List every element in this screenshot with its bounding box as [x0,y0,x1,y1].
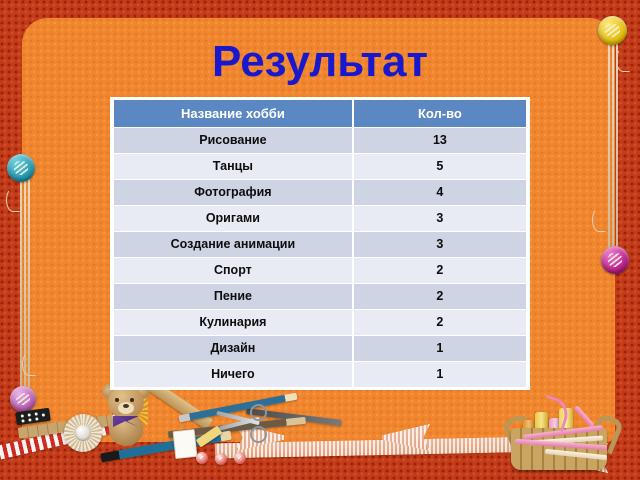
table-row: Оригами 3 [113,206,527,232]
cell-count: 5 [353,154,527,180]
cell-count: 2 [353,284,527,310]
table-row: Рисование 13 [113,128,527,154]
hobby-results-table: Название хобби Кол-во Рисование 13 Танцы… [110,97,530,390]
column-header-count: Кол-во [353,100,527,128]
slide: Результат анкетирования Название хобби К… [0,0,640,480]
cell-count: 1 [353,336,527,362]
cell-count: 1 [353,362,527,388]
cell-hobby-name: Оригами [113,206,353,232]
cell-count: 2 [353,310,527,336]
table-row: Кулинария 2 [113,310,527,336]
cell-hobby-name: Дизайн [113,336,353,362]
cell-count: 3 [353,232,527,258]
cell-count: 4 [353,180,527,206]
table-header-row: Название хобби Кол-во [113,100,527,128]
cell-hobby-name: Пение [113,284,353,310]
cell-count: 2 [353,258,527,284]
cell-hobby-name: Рисование [113,128,353,154]
cell-hobby-name: Создание анимации [113,232,353,258]
cell-count: 3 [353,206,527,232]
cell-hobby-name: Фотография [113,180,353,206]
cell-hobby-name: Кулинария [113,310,353,336]
table-row: Создание анимации 3 [113,232,527,258]
cell-hobby-name: Спорт [113,258,353,284]
column-header-hobby-name: Название хобби [113,100,353,128]
table-row: Пение 2 [113,284,527,310]
cell-hobby-name: Ничего [113,362,353,388]
table-row: Ничего 1 [113,362,527,388]
table-row: Фотография 4 [113,180,527,206]
table-row: Спорт 2 [113,258,527,284]
cell-count: 13 [353,128,527,154]
table-row: Дизайн 1 [113,336,527,362]
table-row: Танцы 5 [113,154,527,180]
cell-hobby-name: Танцы [113,154,353,180]
